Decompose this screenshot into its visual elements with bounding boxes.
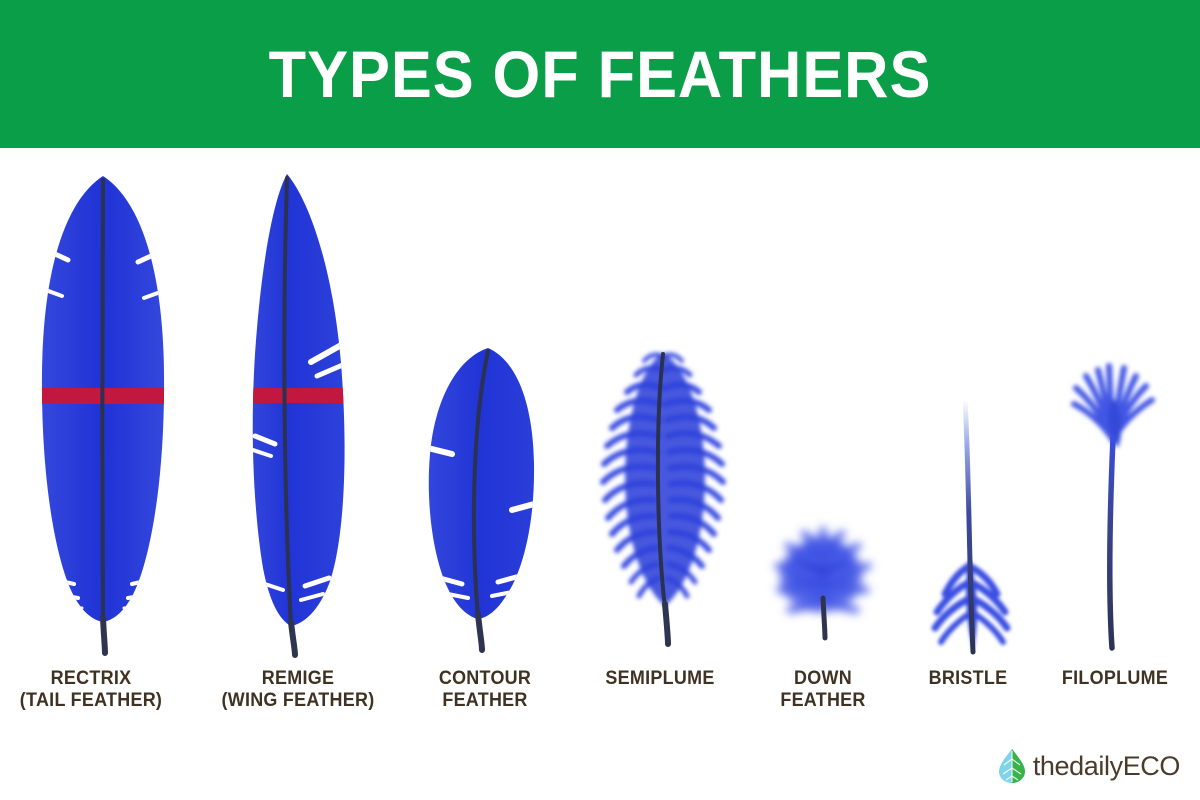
feather-label-filoplume: FILOPLUME	[1009, 667, 1200, 689]
contour-quill	[478, 614, 482, 650]
remige-quill	[291, 622, 295, 655]
logo-text: thedailyECO	[1033, 751, 1180, 782]
down-quill	[823, 598, 825, 638]
rectrix-quill	[103, 618, 105, 653]
page-title: TYPES OF FEATHERS	[42, 0, 1158, 148]
brand-logo[interactable]: thedailyECO	[997, 748, 1180, 784]
feather-label-rectrix: RECTRIX (TAIL FEATHER)	[0, 667, 197, 711]
leaf-droplet-icon	[997, 748, 1027, 784]
infographic-page: TYPES OF FEATHERS	[0, 0, 1200, 800]
feather-item-filoplume: FILOPLUME	[1000, 148, 1200, 658]
filoplume-shaft	[1110, 438, 1113, 648]
semiplume-quill	[665, 604, 668, 644]
feather-diagram: RECTRIX (TAIL FEATHER)	[0, 148, 1200, 800]
filoplume-feather-icon	[1000, 148, 1200, 658]
feather-label-remige: REMIGE (WING FEATHER)	[192, 667, 404, 711]
